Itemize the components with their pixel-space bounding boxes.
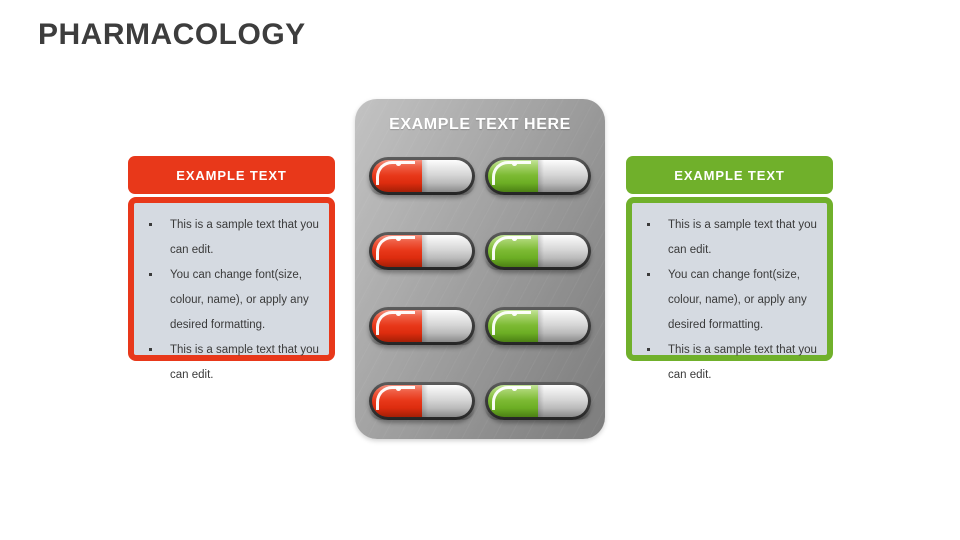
bullet-list-right: This is a sample text that you can edit.… bbox=[638, 213, 819, 388]
capsule-icon bbox=[369, 232, 475, 270]
list-item-text: This is a sample text that you can edit. bbox=[170, 219, 319, 256]
list-item: This is a sample text that you can edit. bbox=[638, 338, 819, 388]
panel-body-right: This is a sample text that you can edit.… bbox=[626, 197, 833, 361]
bullet-dot-icon bbox=[647, 223, 650, 226]
list-item: You can change font(size, colour, name),… bbox=[638, 263, 819, 338]
info-panel-left: EXAMPLE TEXT This is a sample text that … bbox=[128, 156, 335, 361]
list-item-text: You can change font(size, colour, name),… bbox=[668, 269, 807, 331]
list-item: This is a sample text that you can edit. bbox=[638, 213, 819, 263]
panel-body-left: This is a sample text that you can edit.… bbox=[128, 197, 335, 361]
capsule-icon bbox=[369, 157, 475, 195]
capsule-icon bbox=[485, 382, 591, 420]
list-item-text: This is a sample text that you can edit. bbox=[170, 344, 319, 381]
list-item: This is a sample text that you can edit. bbox=[140, 338, 321, 388]
capsule-icon bbox=[369, 382, 475, 420]
pill-grid bbox=[369, 157, 591, 420]
capsule-icon bbox=[485, 157, 591, 195]
bullet-dot-icon bbox=[647, 348, 650, 351]
list-item-text: You can change font(size, colour, name),… bbox=[170, 269, 309, 331]
page-title: PHARMACOLOGY bbox=[38, 18, 306, 52]
capsule-icon bbox=[485, 307, 591, 345]
bullet-dot-icon bbox=[149, 223, 152, 226]
info-panel-right: EXAMPLE TEXT This is a sample text that … bbox=[626, 156, 833, 361]
blister-pack-title: EXAMPLE TEXT HERE bbox=[355, 116, 605, 134]
capsule-icon bbox=[485, 232, 591, 270]
list-item: This is a sample text that you can edit. bbox=[140, 213, 321, 263]
panel-header-left: EXAMPLE TEXT bbox=[128, 156, 335, 194]
bullet-dot-icon bbox=[647, 273, 650, 276]
panel-header-right: EXAMPLE TEXT bbox=[626, 156, 833, 194]
bullet-dot-icon bbox=[149, 348, 152, 351]
blister-pack: EXAMPLE TEXT HERE bbox=[355, 99, 605, 439]
list-item: You can change font(size, colour, name),… bbox=[140, 263, 321, 338]
bullet-dot-icon bbox=[149, 273, 152, 276]
capsule-icon bbox=[369, 307, 475, 345]
list-item-text: This is a sample text that you can edit. bbox=[668, 344, 817, 381]
list-item-text: This is a sample text that you can edit. bbox=[668, 219, 817, 256]
bullet-list-left: This is a sample text that you can edit.… bbox=[140, 213, 321, 388]
